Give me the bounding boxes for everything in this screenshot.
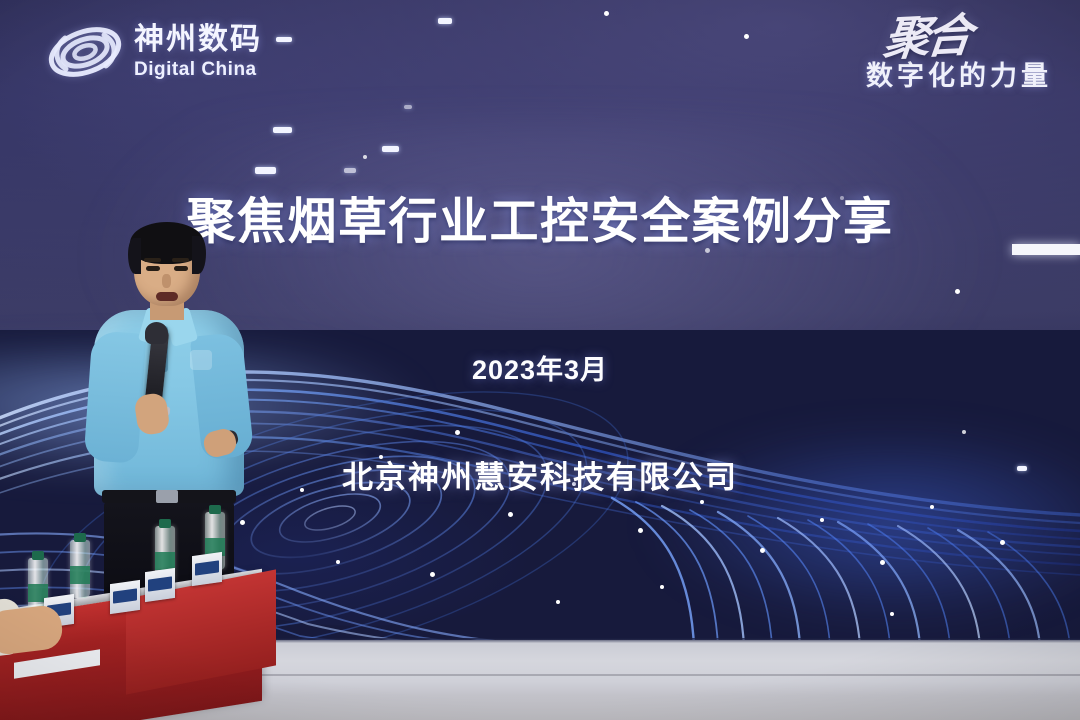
event-slogan: 聚合 数字化的力量 — [866, 18, 1052, 93]
swirl-galaxy-logo-icon — [46, 16, 124, 88]
speaker-nose — [162, 274, 171, 288]
speaker-eyebrow-right — [172, 258, 189, 262]
speaker-hair-side-left — [128, 238, 141, 274]
speaker-eyebrow-left — [144, 258, 161, 262]
speaker-belt-buckle — [156, 490, 178, 503]
speaker-left-sleeve — [84, 330, 147, 463]
brand-name-cn: 神州数码 — [134, 25, 262, 55]
delegate-name-card — [192, 552, 222, 586]
speaker-mouth — [156, 292, 178, 301]
microphone-head-icon — [145, 322, 168, 344]
foreground-conference-table — [0, 560, 265, 720]
brand-name-en: Digital China — [134, 60, 262, 79]
speaker-eye-right — [174, 266, 188, 271]
speaker-eye-left — [146, 266, 160, 271]
speaker-hair-side-right — [192, 236, 206, 274]
speaker-chest-logo-icon — [190, 350, 212, 370]
delegate-name-card — [145, 568, 175, 602]
delegate-name-card — [110, 580, 140, 614]
brand-logo: 神州数码 Digital China — [46, 16, 262, 88]
presentation-photo: 神州数码 Digital China 聚合 数字化的力量 聚焦烟草行业工控安全案… — [0, 0, 1080, 720]
water-bottle — [70, 540, 90, 598]
slogan-calligraphy: 聚合 — [882, 16, 971, 60]
